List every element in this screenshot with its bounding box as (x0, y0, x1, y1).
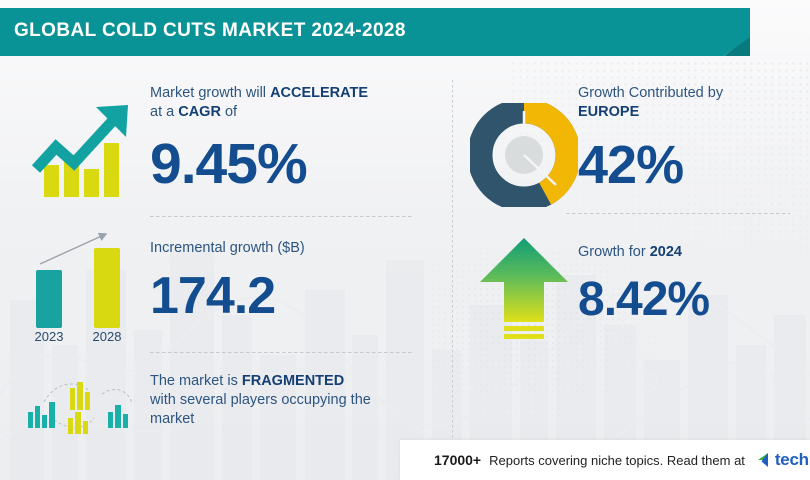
page-title: GLOBAL COLD CUTS MARKET 2024-2028 (14, 20, 406, 42)
footer-bar: 17000+ Reports covering niche topics. Re… (400, 440, 810, 480)
left-divider-bottom (150, 352, 412, 353)
right-divider (566, 213, 790, 214)
cagr-line1-prefix: Market growth will (150, 85, 270, 101)
growth-2024-caption: Growth for 2024 (578, 243, 808, 262)
europe-value: 42% (578, 138, 808, 192)
donut-chart-icon (470, 103, 578, 207)
bar-chart-icon: 2023 2028 (18, 228, 144, 343)
cagr-line2-bold: CAGR (178, 104, 221, 120)
column-divider (452, 80, 453, 440)
cagr-value: 9.45% (150, 136, 430, 193)
growth-2024-block: Growth for 2024 8.42% (578, 243, 808, 324)
footer-text: Reports covering niche topics. Read them… (489, 453, 745, 468)
incremental-growth-block: Incremental growth ($B) 174.2 (150, 239, 430, 322)
infographic-body: 2023 2028 (0, 0, 810, 480)
europe-contribution-block: Growth Contributed by EUROPE 42% (578, 84, 808, 192)
incremental-growth-label: Incremental growth ($B) (150, 239, 430, 258)
report-count: 17000+ (434, 452, 481, 468)
fragmentation-line1-prefix: The market is (150, 373, 242, 389)
cagr-line1-bold: ACCELERATE (270, 85, 368, 101)
europe-caption: Growth Contributed by EUROPE (578, 84, 808, 122)
left-divider-top (150, 216, 412, 217)
cagr-stat-block: Market growth will ACCELERATE at a CAGR … (150, 84, 430, 193)
fragmentation-line2: with several players occupying the (150, 392, 371, 408)
cagr-line2-suffix: of (221, 104, 237, 120)
europe-line2-bold: EUROPE (578, 104, 639, 120)
europe-line1: Growth Contributed by (578, 85, 723, 101)
bar-label-2023: 2023 (35, 329, 64, 343)
fragmentation-block: The market is FRAGMENTED with several pl… (150, 372, 440, 429)
growth-2024-year: 2024 (650, 244, 682, 260)
up-arrow-icon (476, 234, 572, 344)
fragmentation-line1-bold: FRAGMENTED (242, 373, 344, 389)
growth-2024-value: 8.42% (578, 276, 808, 324)
fragmented-market-icon (14, 372, 140, 438)
growth-chart-icon (22, 93, 142, 205)
header-banner: GLOBAL COLD CUTS MARKET 2024-2028 (0, 8, 750, 56)
cagr-caption: Market growth will ACCELERATE at a CAGR … (150, 84, 430, 122)
incremental-growth-value: 174.2 (150, 270, 430, 322)
technavio-logo[interactable]: technavio (757, 450, 810, 470)
cagr-line2-prefix: at a (150, 104, 178, 120)
technavio-wordmark: technavio (775, 450, 810, 470)
fragmentation-caption: The market is FRAGMENTED with several pl… (150, 372, 440, 429)
technavio-flag-icon (757, 451, 775, 469)
bar-label-2028: 2028 (93, 329, 122, 343)
growth-2024-prefix: Growth for (578, 244, 650, 260)
logo-text-tech: tech (775, 450, 809, 469)
fragmentation-line3: market (150, 411, 194, 427)
